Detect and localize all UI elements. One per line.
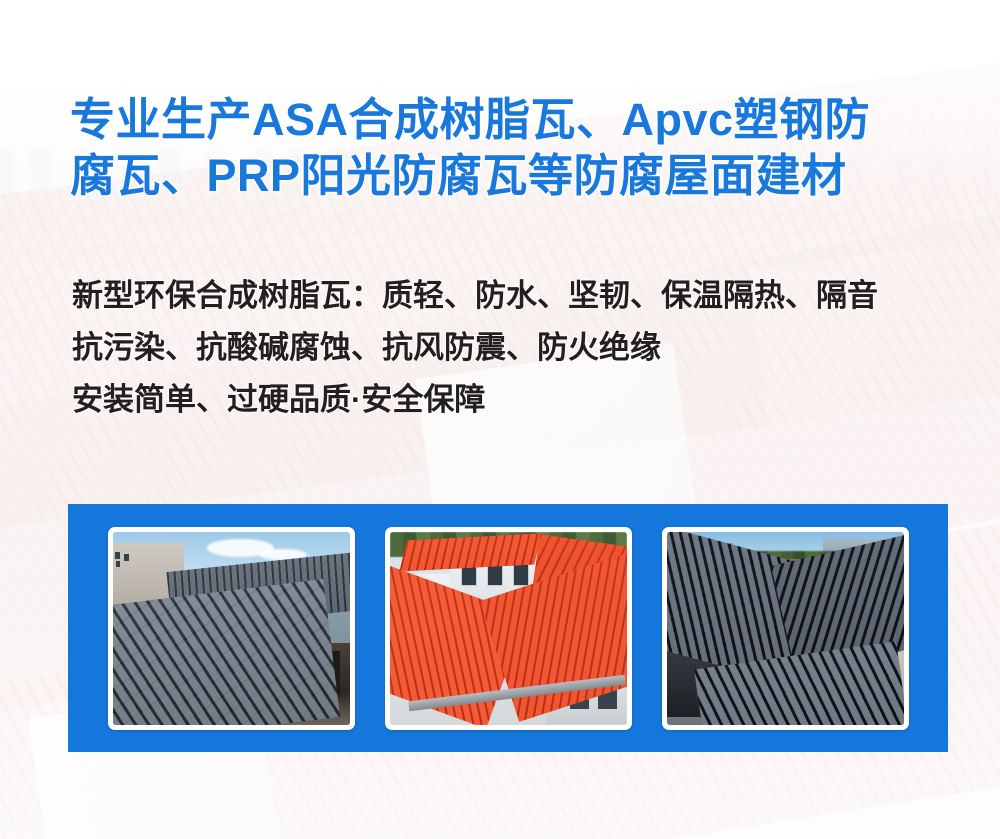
photo-card-red-roof[interactable] — [385, 527, 632, 730]
feature-copy-line-3: 安装简单、过硬品质·安全保障 — [72, 374, 972, 426]
photo-red-resin-tile-roof — [390, 532, 627, 725]
feature-copy-line-1: 新型环保合成树脂瓦：质轻、防水、坚韧、保温隔热、隔音 — [72, 270, 972, 322]
feature-copy: 新型环保合成树脂瓦：质轻、防水、坚韧、保温隔热、隔音 抗污染、抗酸碱腐蚀、抗风防… — [72, 270, 972, 426]
product-promo-banner: 专业生产ASA合成树脂瓦、Apvc塑钢防 腐瓦、PRP阳光防腐瓦等防腐屋面建材 … — [0, 0, 1000, 839]
headline-line-1: 专业生产ASA合成树脂瓦、Apvc塑钢防 — [70, 92, 970, 148]
photo-card-grey-roof[interactable] — [108, 527, 355, 730]
feature-copy-line-2: 抗污染、抗酸碱腐蚀、抗风防震、防火绝缘 — [72, 322, 972, 374]
photo2-window — [513, 562, 530, 585]
photo1-window — [124, 554, 129, 561]
headline-line-2: 腐瓦、PRP阳光防腐瓦等防腐屋面建材 — [70, 148, 970, 204]
photo1-window — [116, 561, 120, 567]
photo-card-black-roof[interactable] — [662, 527, 909, 730]
headline: 专业生产ASA合成树脂瓦、Apvc塑钢防 腐瓦、PRP阳光防腐瓦等防腐屋面建材 — [70, 92, 970, 204]
photo-grey-resin-tile-roof — [113, 532, 350, 725]
photo1-window — [115, 552, 120, 559]
photo-black-resin-tile-roof — [667, 532, 904, 725]
photo1-roof-foreground — [113, 579, 341, 725]
photo-gallery-panel — [68, 504, 948, 752]
